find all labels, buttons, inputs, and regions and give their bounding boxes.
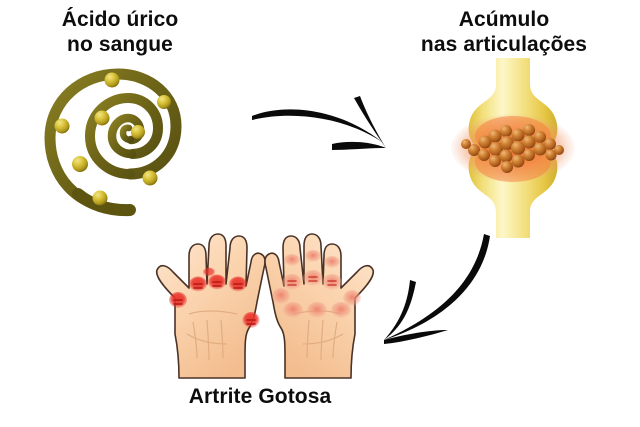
spiral-arms — [50, 74, 176, 210]
arrow-blood-to-joint — [250, 92, 410, 162]
label-gouty-arthritis: Artrite Gotosa — [140, 385, 380, 410]
arrow-left-down-icon — [372, 232, 502, 352]
inflamed-joint-icon — [438, 58, 588, 238]
two-hands-icon — [145, 226, 385, 386]
right-hand — [265, 234, 373, 378]
arrow-joint-to-hands — [372, 232, 502, 352]
arrow-right-down-icon — [250, 92, 410, 162]
label-uric-acid-in-blood: Ácido úrico no sangue — [20, 8, 220, 58]
blood-spiral-illustration — [38, 60, 198, 220]
infographic-canvas: Ácido úrico no sangue Acúmulo nas articu… — [0, 0, 640, 427]
left-hand — [157, 234, 265, 378]
hands-illustration — [145, 226, 385, 386]
label-accumulation-in-joints: Acúmulo nas articulações — [378, 8, 630, 58]
blood-spiral-icon — [38, 60, 198, 220]
joint-illustration — [438, 58, 588, 238]
